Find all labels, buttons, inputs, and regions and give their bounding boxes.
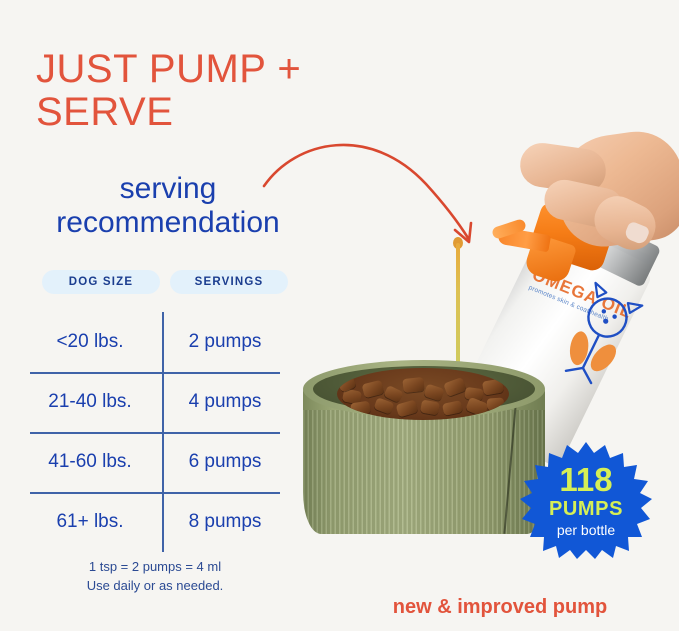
- column-header-dog-size: Dog size: [42, 270, 160, 294]
- table-row: 61+ lbs. 8 pumps: [30, 492, 280, 552]
- cell-servings: 8 pumps: [162, 511, 280, 533]
- cell-servings: 6 pumps: [162, 451, 280, 473]
- kibble: [337, 368, 509, 420]
- badge-unit: PUMPS: [549, 499, 623, 519]
- dog-food-bowl: [303, 360, 545, 542]
- cell-servings: 2 pumps: [162, 331, 280, 353]
- badge-text: 118 PUMPS per bottle: [518, 440, 654, 560]
- pumps-per-bottle-badge: 118 PUMPS per bottle: [518, 440, 654, 560]
- table-row: 21-40 lbs. 4 pumps: [30, 372, 280, 432]
- serving-table: <20 lbs. 2 pumps 21-40 lbs. 4 pumps 41-6…: [30, 312, 280, 552]
- bowl-rim: [303, 360, 545, 418]
- product-infographic: Just pump + serve serving recommendation…: [0, 0, 679, 631]
- table-row: 41-60 lbs. 6 pumps: [30, 432, 280, 492]
- bottom-caption: new & improved pump: [355, 596, 645, 619]
- curved-arrow-icon: [250, 118, 510, 263]
- cell-dog-size: <20 lbs.: [30, 331, 162, 353]
- cell-dog-size: 61+ lbs.: [30, 511, 162, 533]
- cell-dog-size: 21-40 lbs.: [30, 391, 162, 413]
- cell-servings: 4 pumps: [162, 391, 280, 413]
- hand: [498, 128, 679, 268]
- badge-qualifier: per bottle: [557, 523, 615, 537]
- column-header-servings: Servings: [170, 270, 288, 294]
- table-header-row: Dog size Servings: [42, 270, 302, 294]
- cell-dog-size: 41-60 lbs.: [30, 451, 162, 473]
- footnote: 1 tsp = 2 pumps = 4 ml Use daily or as n…: [30, 558, 280, 596]
- table-row: <20 lbs. 2 pumps: [30, 312, 280, 372]
- badge-number: 118: [559, 463, 612, 496]
